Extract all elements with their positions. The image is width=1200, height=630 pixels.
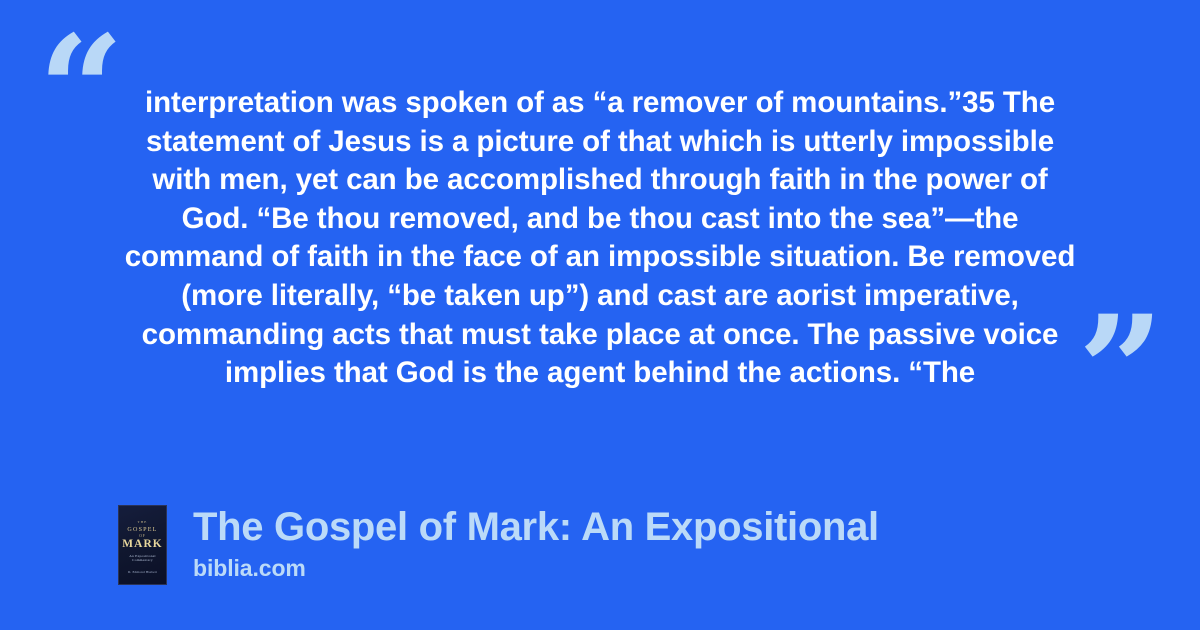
quote-text-block: interpretation was spoken of as “a remov…	[108, 84, 1092, 393]
quote-line: statement of Jesus is a picture of that …	[108, 123, 1092, 162]
quote-line: with men, yet can be accomplished throug…	[108, 161, 1092, 200]
quote-card: “ interpretation was spoken of as “a rem…	[0, 0, 1200, 630]
quote-line: interpretation was spoken of as “a remov…	[108, 84, 1092, 123]
quote-line: (more literally, “be taken up”) and cast…	[108, 277, 1092, 316]
attribution-footer: THE GOSPEL OF MARK An Expositional Comme…	[118, 505, 879, 585]
book-cover-author: D. Edmond Hiebert	[128, 571, 157, 574]
book-cover-gospel: GOSPEL	[127, 527, 157, 533]
quote-line: God. “Be thou removed, and be thou cast …	[108, 200, 1092, 239]
closing-quote-icon: ”	[1078, 296, 1164, 446]
book-title: The Gospel of Mark: An Expositional	[193, 505, 879, 549]
book-cover-the: THE	[138, 521, 148, 524]
quote-line: command of faith in the face of an impos…	[108, 238, 1092, 277]
footer-text-group: The Gospel of Mark: An Expositional bibl…	[193, 505, 879, 582]
quote-line: implies that God is the agent behind the…	[108, 354, 1092, 393]
book-cover-thumbnail: THE GOSPEL OF MARK An Expositional Comme…	[118, 505, 167, 585]
book-cover-subtitle: An Expositional Commentary	[119, 555, 166, 562]
source-site: biblia.com	[193, 554, 879, 582]
quote-line: commanding acts that must take place at …	[108, 316, 1092, 355]
book-cover-mark: MARK	[122, 539, 162, 550]
